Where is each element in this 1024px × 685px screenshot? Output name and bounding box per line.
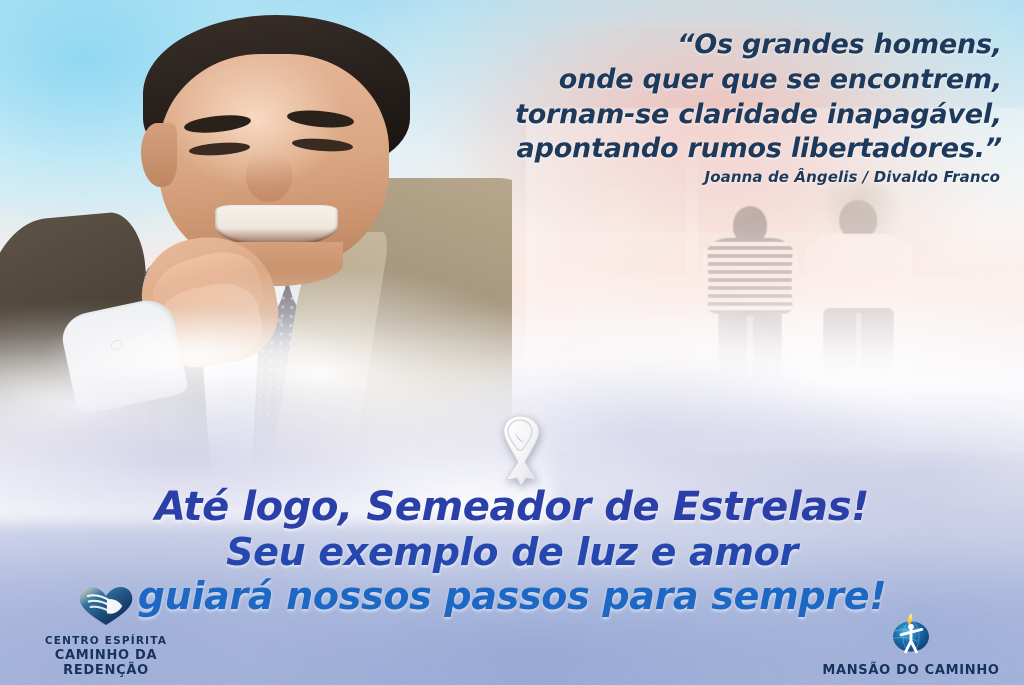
logo-centro-espirita: CENTRO ESPÍRITA CAMINHO DA REDENÇÃO	[10, 585, 202, 679]
portrait-nose	[246, 153, 292, 202]
quote-line-2: onde quer que se encontrem,	[482, 63, 1002, 98]
globe-figure-flame-icon	[806, 611, 1016, 660]
quote-attribution: Joanna de Ângelis / Divaldo Franco	[480, 168, 1000, 186]
tribute-poster: “Os grandes homens, onde quer que se enc…	[0, 0, 1024, 685]
logo-mansao-do-caminho: MANSÃO DO CAMINHO	[806, 611, 1016, 679]
portrait-ear	[141, 123, 177, 187]
quote-line-3: tornam-se claridade inapagável,	[482, 98, 1002, 133]
quote-line-4: apontando rumos libertadores.”	[482, 132, 1002, 167]
white-mourning-ribbon-icon	[488, 410, 552, 486]
logo-right-line-1: MANSÃO DO CAMINHO	[806, 663, 1016, 679]
quote-text: “Os grandes homens, onde quer que se enc…	[482, 28, 1002, 167]
quote-line-1: “Os grandes homens,	[482, 28, 1002, 63]
portrait-smile	[215, 205, 338, 247]
hands-heart-icon	[10, 585, 202, 632]
headline-line-1: Até logo, Semeador de Estrelas!	[0, 487, 1024, 527]
headline-line-2: Seu exemplo de luz e amor	[0, 533, 1024, 571]
logo-left-line-1: CENTRO ESPÍRITA	[10, 635, 202, 648]
logo-left-line-2: CAMINHO DA REDENÇÃO	[10, 648, 202, 679]
